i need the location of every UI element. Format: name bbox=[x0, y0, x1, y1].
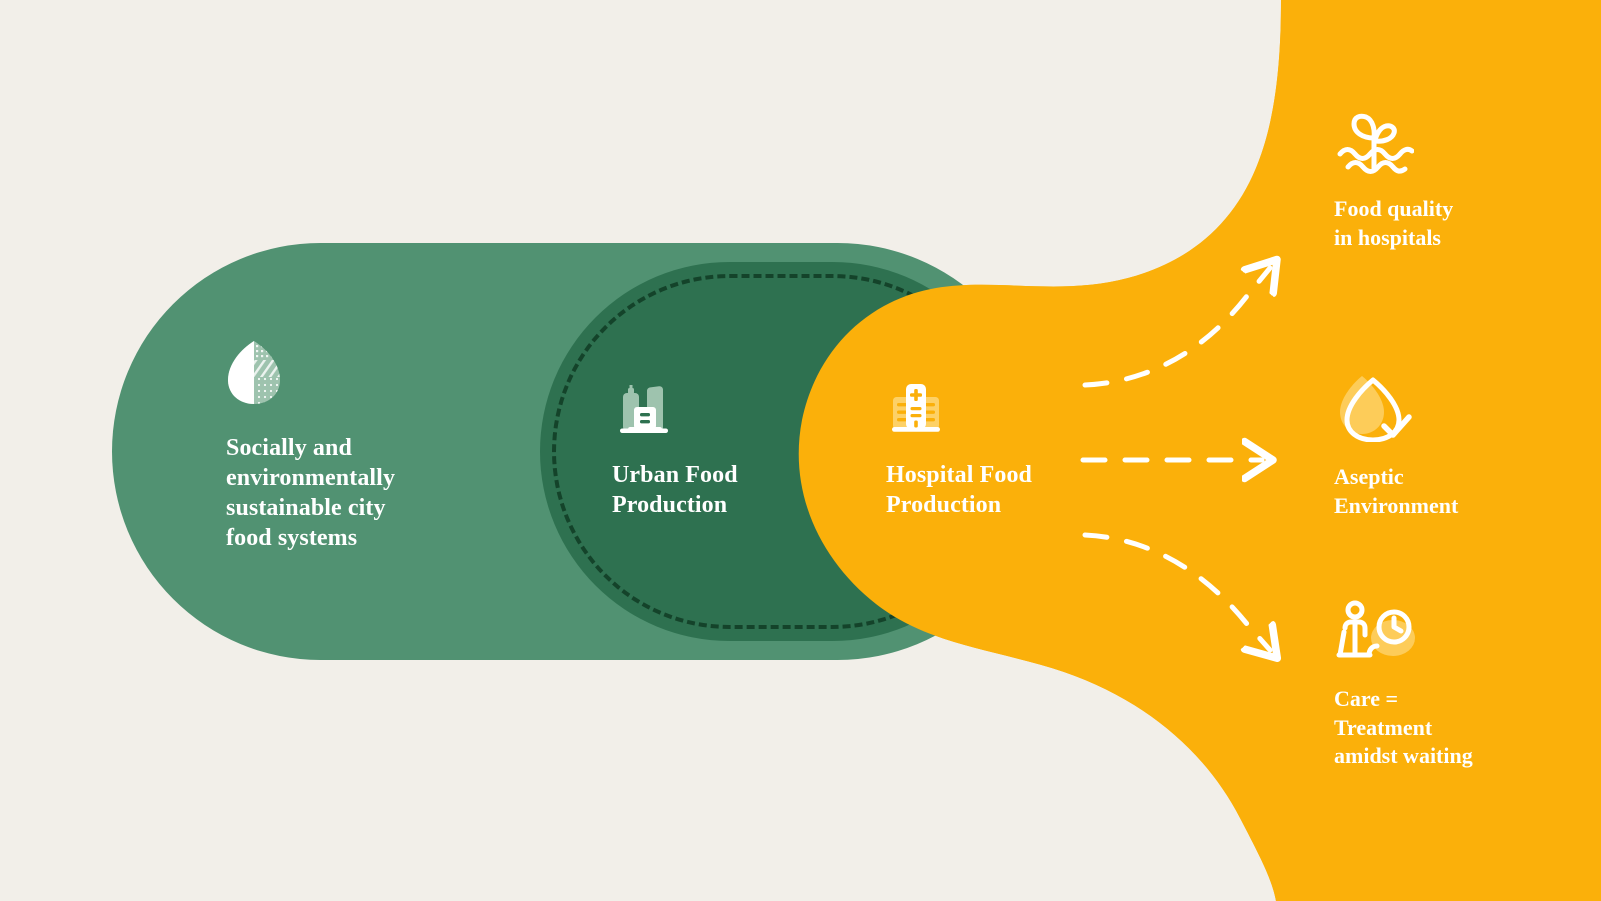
arrow-to-food-quality bbox=[1085, 268, 1270, 385]
stage-hospital-food-production[interactable]: Hospital Food Production bbox=[886, 377, 1066, 520]
sprout-water-icon bbox=[1334, 112, 1554, 179]
outcome-aseptic-environment[interactable]: Aseptic Environment bbox=[1334, 372, 1554, 520]
stage-label: Socially and environmentally sustainable… bbox=[226, 433, 456, 553]
city-buildings-icon bbox=[612, 377, 792, 438]
droplet-check-icon bbox=[1334, 372, 1554, 447]
outcome-label: Food quality in hospitals bbox=[1334, 196, 1453, 250]
stage-urban-food-production[interactable]: Urban Food Production bbox=[612, 377, 792, 520]
egg-seed-icon bbox=[226, 340, 456, 411]
outcome-food-quality[interactable]: Food quality in hospitals bbox=[1334, 112, 1554, 252]
stage-label: Urban Food Production bbox=[612, 460, 792, 520]
diagram-canvas: Socially and environmentally sustainable… bbox=[0, 0, 1601, 901]
arrow-to-care-treatment bbox=[1085, 535, 1270, 650]
hospital-building-icon bbox=[886, 377, 1066, 438]
outcome-care-treatment[interactable]: Care = Treatment amidst waiting bbox=[1334, 598, 1554, 771]
stage-label: Hospital Food Production bbox=[886, 460, 1066, 520]
seated-person-clock-icon bbox=[1334, 598, 1554, 669]
outcome-label: Care = Treatment amidst waiting bbox=[1334, 686, 1473, 768]
stage-socially-sustainable[interactable]: Socially and environmentally sustainable… bbox=[226, 340, 456, 553]
outcome-label: Aseptic Environment bbox=[1334, 464, 1458, 518]
